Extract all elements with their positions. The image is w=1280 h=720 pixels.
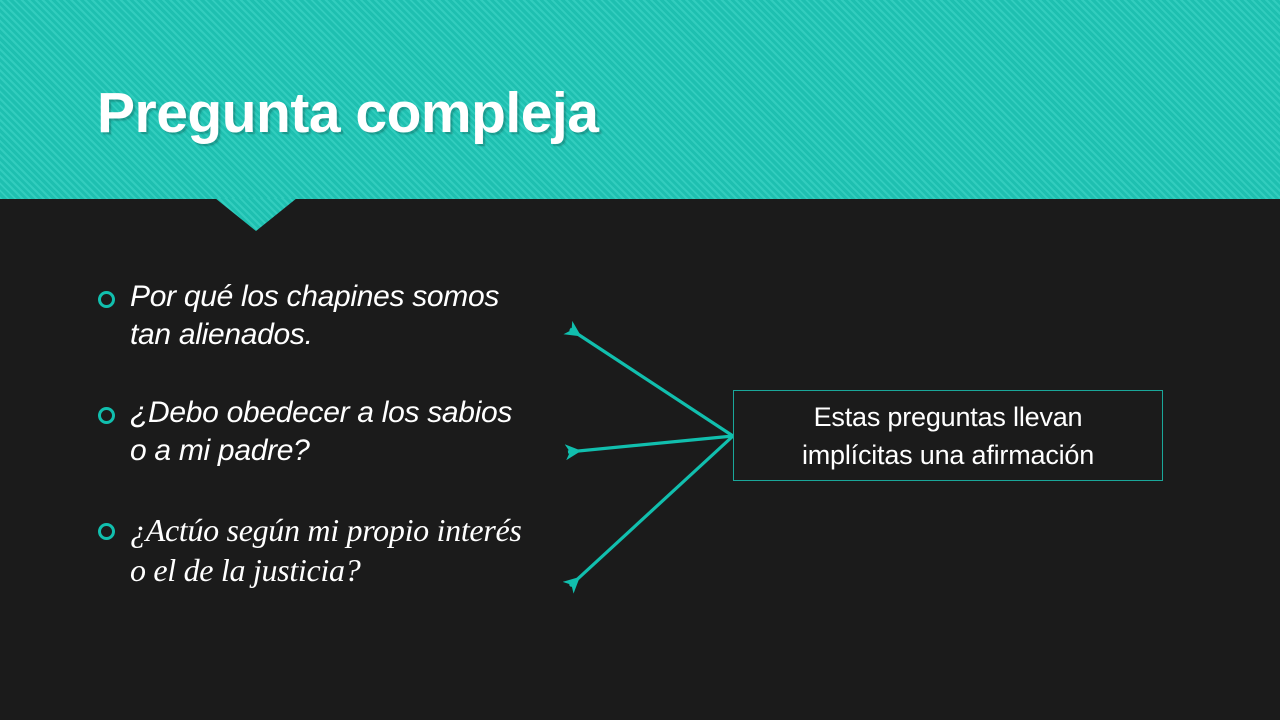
circle-bullet-icon: [98, 407, 115, 424]
list-item: Por qué los chapines somos tan alienados…: [98, 278, 528, 354]
callout-box: Estas preguntas llevan implícitas una af…: [733, 390, 1163, 481]
arrow-to-bullet-1: [570, 329, 733, 436]
list-item-label: Por qué los chapines somos tan alienados…: [130, 278, 528, 354]
list-item-label: ¿Actúo según mi propio interés o el de l…: [130, 510, 528, 590]
circle-bullet-icon: [98, 291, 115, 308]
arrow-to-bullet-2: [568, 436, 733, 452]
bullet-list: Por qué los chapines somos tan alienados…: [98, 278, 528, 630]
presentation-slide: Pregunta compleja Por qué los chapines s…: [0, 0, 1280, 720]
page-title: Pregunta compleja: [97, 80, 598, 146]
callout-text: Estas preguntas llevan implícitas una af…: [802, 398, 1094, 474]
list-item: ¿Debo obedecer a los sabios o a mi padre…: [98, 394, 528, 470]
header-notch-triangle: [215, 198, 297, 231]
list-item-label: ¿Debo obedecer a los sabios o a mi padre…: [130, 394, 528, 470]
circle-bullet-icon: [98, 523, 115, 540]
list-item: ¿Actúo según mi propio interés o el de l…: [98, 510, 528, 590]
arrow-to-bullet-3: [570, 436, 733, 586]
